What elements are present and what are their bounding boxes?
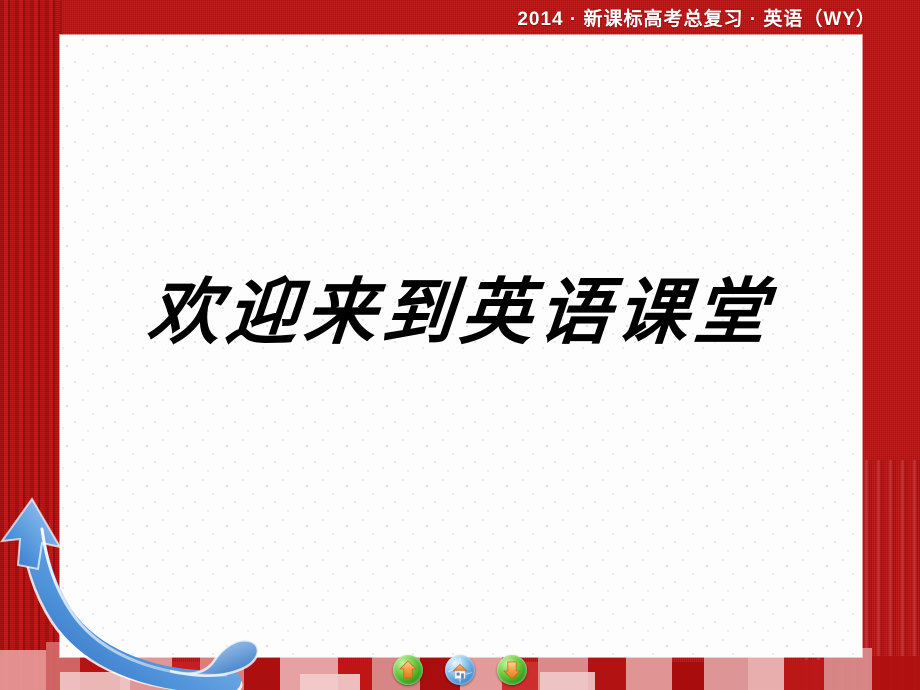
home-globe-icon xyxy=(445,655,475,685)
slide-canvas: 2014 · 新课标高考总复习 · 英语（WY） 欢迎来到英语课堂 xyxy=(0,0,920,690)
slide-navigation-bar[interactable]: previous home xyxy=(0,654,920,686)
nav-home-button[interactable]: home xyxy=(445,655,475,685)
content-panel: 欢迎来到英语课堂 xyxy=(60,35,862,657)
header-title: 2014 · 新课标高考总复习 · 英语（WY） xyxy=(517,4,876,31)
page-title: 欢迎来到英语课堂 xyxy=(55,253,866,358)
nav-next-button[interactable]: next xyxy=(497,655,527,685)
down-arrow-icon xyxy=(497,655,527,685)
left-stripe-overlay xyxy=(0,0,62,690)
up-arrow-icon xyxy=(393,655,423,685)
nav-previous-button[interactable]: previous xyxy=(393,655,423,685)
